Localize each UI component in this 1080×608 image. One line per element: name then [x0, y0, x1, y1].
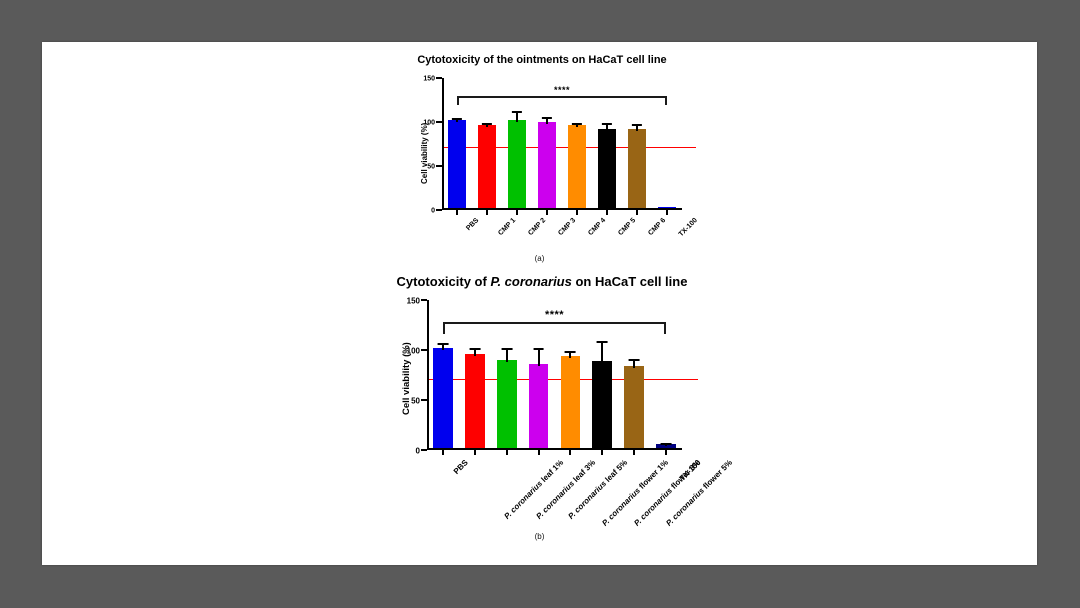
error-bar-cap	[533, 348, 544, 350]
x-axis-tick-label: PBS	[465, 217, 480, 232]
x-axis-tick	[546, 210, 548, 215]
x-axis-tick-label: CMP 5	[617, 217, 637, 237]
chart-a-title: Cytotoxicity of the ointments on HaCaT c…	[382, 54, 702, 66]
error-bar-cap	[602, 123, 612, 125]
error-bar-cap	[661, 443, 672, 445]
error-bar	[442, 345, 444, 350]
error-bar-cap	[565, 351, 576, 353]
x-axis-tick-label: P. coronarius flower 5%	[664, 458, 734, 528]
x-axis-tick	[442, 450, 444, 455]
error-bar-cap	[482, 123, 492, 125]
bar-cmp-5	[598, 129, 617, 208]
y-axis-tick	[421, 349, 427, 351]
figure-a-subcaption: (a)	[42, 254, 1037, 263]
y-axis-tick-label: 150	[423, 76, 435, 83]
x-axis-tick	[456, 210, 458, 215]
bar-cmp-4	[568, 125, 587, 208]
document-viewer: Cytotoxicity of the ointments on HaCaT c…	[0, 0, 1080, 608]
bar-p-coronarius-flower-5	[624, 366, 644, 448]
bar-pbs	[433, 348, 453, 448]
error-bar-cap	[452, 118, 462, 120]
x-axis-tick	[601, 450, 603, 455]
y-axis-tick-label: 0	[416, 447, 420, 456]
error-bar	[516, 113, 518, 122]
bar-p-coronarius-leaf-5	[529, 364, 549, 448]
x-axis-tick	[666, 210, 668, 215]
bar-cmp-2	[508, 120, 527, 208]
x-axis-tick-label: PBS	[452, 458, 470, 476]
error-bar	[601, 343, 603, 363]
y-axis-tick	[436, 165, 442, 167]
error-bar	[538, 350, 540, 366]
bar-tx-100	[658, 207, 677, 208]
significance-bracket	[457, 96, 667, 105]
bar-cmp-3	[538, 122, 557, 208]
significance-stars: ****	[457, 85, 667, 95]
error-bar-cap	[597, 341, 608, 343]
chart-b-title-species: P. coronarius	[490, 274, 571, 289]
y-axis-tick-label: 50	[411, 397, 420, 406]
x-axis	[427, 448, 682, 450]
error-bar-cap	[629, 359, 640, 361]
x-axis-tick-label: CMP 6	[647, 217, 667, 237]
error-bar	[606, 125, 608, 131]
y-axis-label: Cell viability (%)	[401, 342, 412, 415]
x-axis-tick-label: CMP 1	[497, 217, 517, 237]
x-axis-tick	[606, 210, 608, 215]
y-axis-tick	[421, 299, 427, 301]
error-bar-cap	[572, 123, 582, 125]
bar-p-coronarius-flower-1	[561, 356, 581, 448]
error-bar	[474, 350, 476, 356]
y-axis-label: Cell viability (%)	[420, 123, 429, 184]
error-bar-cap	[542, 117, 552, 119]
bar-cmp-6	[628, 129, 647, 208]
error-bar-cap	[632, 124, 642, 126]
x-axis-tick	[633, 450, 635, 455]
error-bar	[486, 125, 488, 128]
figure-b: Cytotoxicity of P. coronarius on HaCaT c…	[352, 274, 732, 544]
x-axis-tick	[665, 450, 667, 455]
chart-a-plot: 050100150Cell viability (%)PBSCMP 1CMP 2…	[442, 78, 682, 210]
y-axis-tick	[421, 399, 427, 401]
x-axis-tick	[516, 210, 518, 215]
error-bar-cap	[512, 111, 522, 113]
x-axis-tick-label: P. coronarius leaf 3%	[534, 458, 597, 521]
bar-p-coronarius-flower-3	[592, 361, 612, 448]
error-bar	[636, 126, 638, 130]
error-bar	[546, 119, 548, 123]
y-axis-tick-label: 150	[407, 297, 420, 306]
x-axis-tick	[538, 450, 540, 455]
x-axis-tick	[486, 210, 488, 215]
significance-bracket	[443, 322, 666, 334]
y-axis	[427, 300, 429, 450]
y-axis-tick	[436, 121, 442, 123]
bar-p-coronarius-leaf-1	[465, 354, 485, 448]
y-axis-tick-label: 0	[431, 208, 435, 215]
x-axis-tick-label: TX-100	[678, 217, 699, 238]
y-axis	[442, 78, 444, 210]
error-bar	[633, 361, 635, 368]
error-bar	[569, 353, 571, 358]
x-axis-tick-label: P. coronarius leaf 1%	[502, 458, 565, 521]
figure-a: Cytotoxicity of the ointments on HaCaT c…	[382, 54, 702, 269]
significance-stars: ****	[443, 309, 666, 321]
x-axis-tick-label: CMP 3	[557, 217, 577, 237]
chart-b-title: Cytotoxicity of P. coronarius on HaCaT c…	[352, 274, 732, 289]
x-axis-tick	[506, 450, 508, 455]
y-axis-tick	[421, 449, 427, 451]
error-bar	[576, 125, 578, 128]
error-bar	[506, 350, 508, 362]
x-axis-tick-label: CMP 4	[587, 217, 607, 237]
x-axis-tick-label: CMP 2	[527, 217, 547, 237]
document-page: Cytotoxicity of the ointments on HaCaT c…	[42, 42, 1037, 565]
error-bar-cap	[501, 348, 512, 350]
error-bar	[456, 120, 458, 122]
bar-cmp-1	[478, 125, 497, 208]
bar-p-coronarius-leaf-3	[497, 360, 517, 448]
error-bar-cap	[469, 348, 480, 350]
x-axis-tick	[474, 450, 476, 455]
y-axis-tick	[436, 77, 442, 79]
chart-b-plot: 050100150Cell viability (%)PBSP. coronar…	[427, 300, 682, 450]
x-axis-tick	[569, 450, 571, 455]
error-bar	[665, 445, 667, 446]
x-axis	[442, 208, 682, 210]
error-bar-cap	[438, 343, 449, 345]
x-axis-tick	[576, 210, 578, 215]
bar-pbs	[448, 120, 467, 208]
figure-b-subcaption: (b)	[42, 532, 1037, 541]
x-axis-tick	[636, 210, 638, 215]
y-axis-tick	[436, 209, 442, 211]
